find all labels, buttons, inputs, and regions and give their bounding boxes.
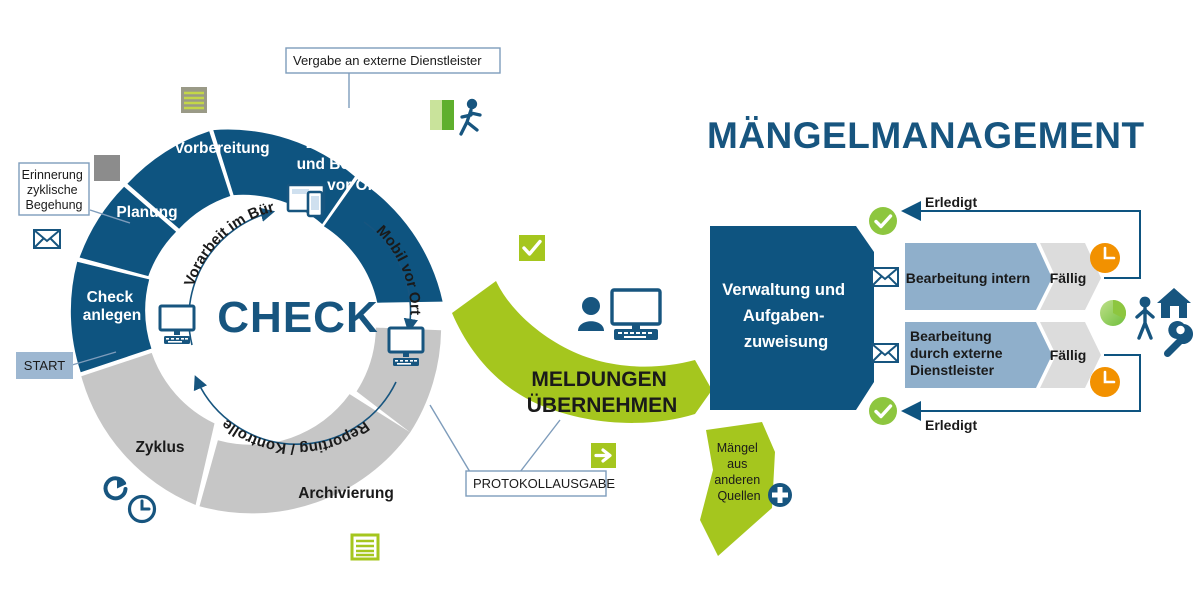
callout-vergabe[interactable]: Vergabe an externe Dienstleister xyxy=(286,48,500,108)
list-document-icon xyxy=(181,87,207,113)
check-circle-icon-extern xyxy=(869,397,897,425)
start-label: START xyxy=(24,358,65,373)
label-archivierung: Archivierung xyxy=(298,485,394,502)
task-label-intern: Bearbeitung intern xyxy=(906,270,1030,286)
callout-vergabe-label: Vergabe an externe Dienstleister xyxy=(293,53,482,68)
refresh-icon xyxy=(106,478,127,498)
label-check-anlegen: Check anlegen xyxy=(83,289,142,324)
check-circle-icon-intern xyxy=(869,207,897,235)
cycle-center-label: CHECK xyxy=(217,293,378,342)
walking-person-icon xyxy=(461,99,480,134)
done-label-intern: Erledigt xyxy=(925,194,977,210)
task-label-extern: Bearbeitung durch externe Dienstleister xyxy=(910,328,1006,378)
orange-clock-icon-intern xyxy=(1090,243,1120,273)
status-label-intern: Fällig xyxy=(1050,270,1087,286)
label-planung: Planung xyxy=(116,204,177,221)
person-icon xyxy=(1137,297,1153,338)
label-zyklus: Zyklus xyxy=(135,439,184,456)
envelope-icon-intern xyxy=(872,268,898,286)
management-row-intern[interactable]: Bearbeitung intern Fällig Erledigt xyxy=(869,194,1140,310)
clock-icon xyxy=(130,497,155,522)
green-pie-icon xyxy=(1100,300,1126,326)
orange-clock-icon-extern xyxy=(1090,367,1120,397)
wrench-icon xyxy=(1164,321,1193,357)
callout-protokoll-label: PROTOKOLLAUSGABE xyxy=(473,476,615,491)
page-title: MÄNGELMANAGEMENT xyxy=(707,115,1145,156)
green-book-icon xyxy=(430,100,454,130)
green-check-square-icon xyxy=(519,235,545,261)
desktop-computer-icon-right xyxy=(389,328,423,366)
devices-icon xyxy=(288,185,324,216)
diagram-svg: Check anlegen Planung Vorbereitung Bearb… xyxy=(0,0,1200,607)
plus-circle-icon xyxy=(768,483,792,507)
envelope-icon-extern xyxy=(872,344,898,362)
label-erledigt: Erledigt xyxy=(452,263,510,280)
diagram-canvas: Check anlegen Planung Vorbereitung Bearb… xyxy=(0,0,1200,607)
house-icon xyxy=(1157,288,1191,318)
label-vorbereitung: Vorbereitung xyxy=(174,140,269,157)
callout-erinnerung-label: Erinnerung zyklische Begehung xyxy=(22,168,87,212)
envelope-icon-left xyxy=(34,230,60,248)
green-lines-document-icon xyxy=(352,535,378,559)
user-monitor-icon xyxy=(578,290,660,340)
status-label-extern: Fällig xyxy=(1050,347,1087,363)
grey-square-icon xyxy=(94,155,120,181)
management-row-extern[interactable]: Bearbeitung durch externe Dienstleister … xyxy=(869,322,1140,433)
segment-zyklus[interactable] xyxy=(81,353,214,505)
done-label-extern: Erledigt xyxy=(925,417,977,433)
desktop-computer-icon-left xyxy=(160,306,194,344)
green-arrow-square-icon xyxy=(591,443,616,468)
